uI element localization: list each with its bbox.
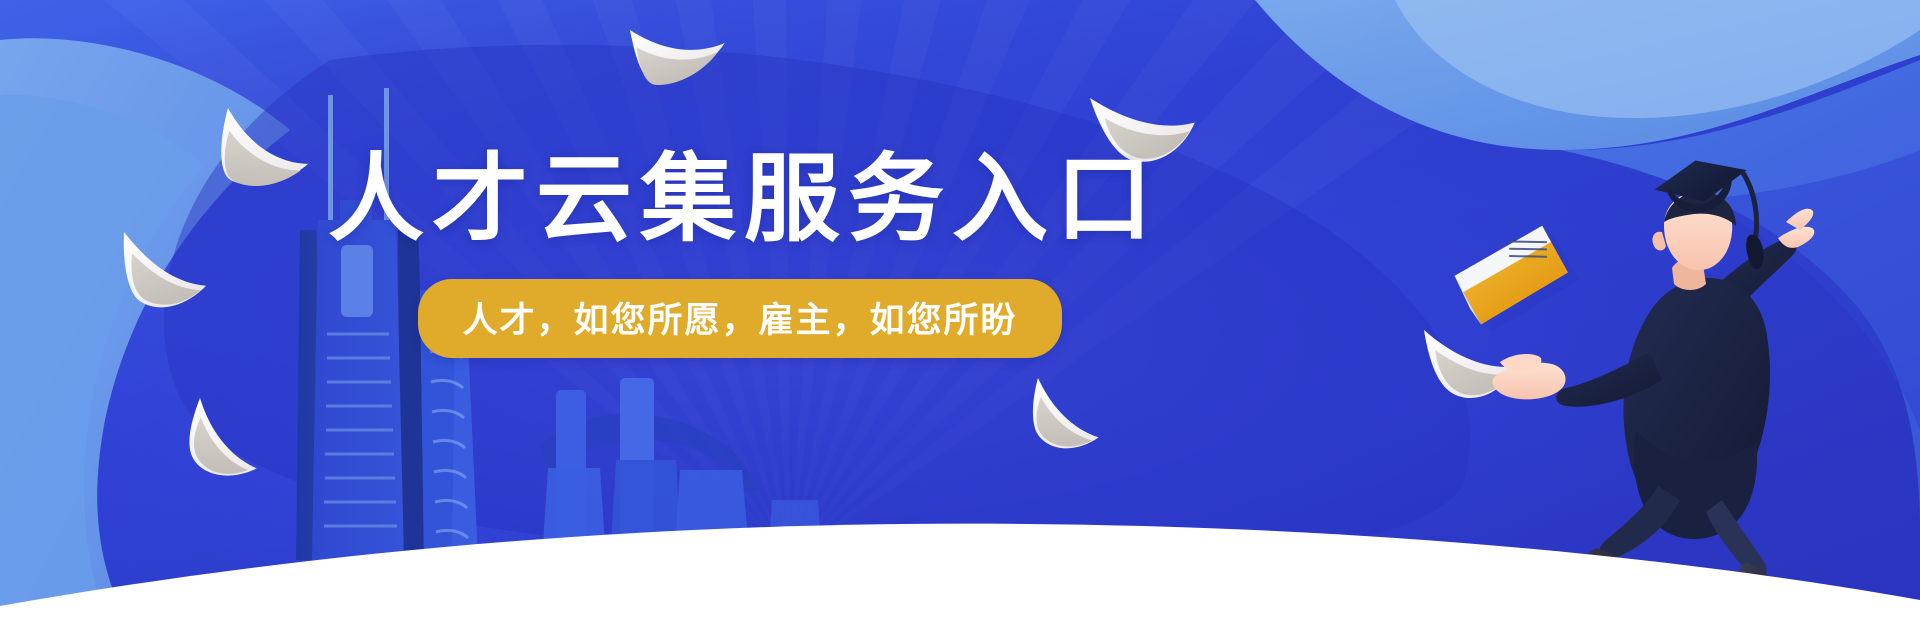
bottom-white-curve — [0, 0, 1920, 630]
hero-banner: 人才云集服务入口 人才，如您所愿，雇主，如您所盼 — [0, 0, 1920, 630]
